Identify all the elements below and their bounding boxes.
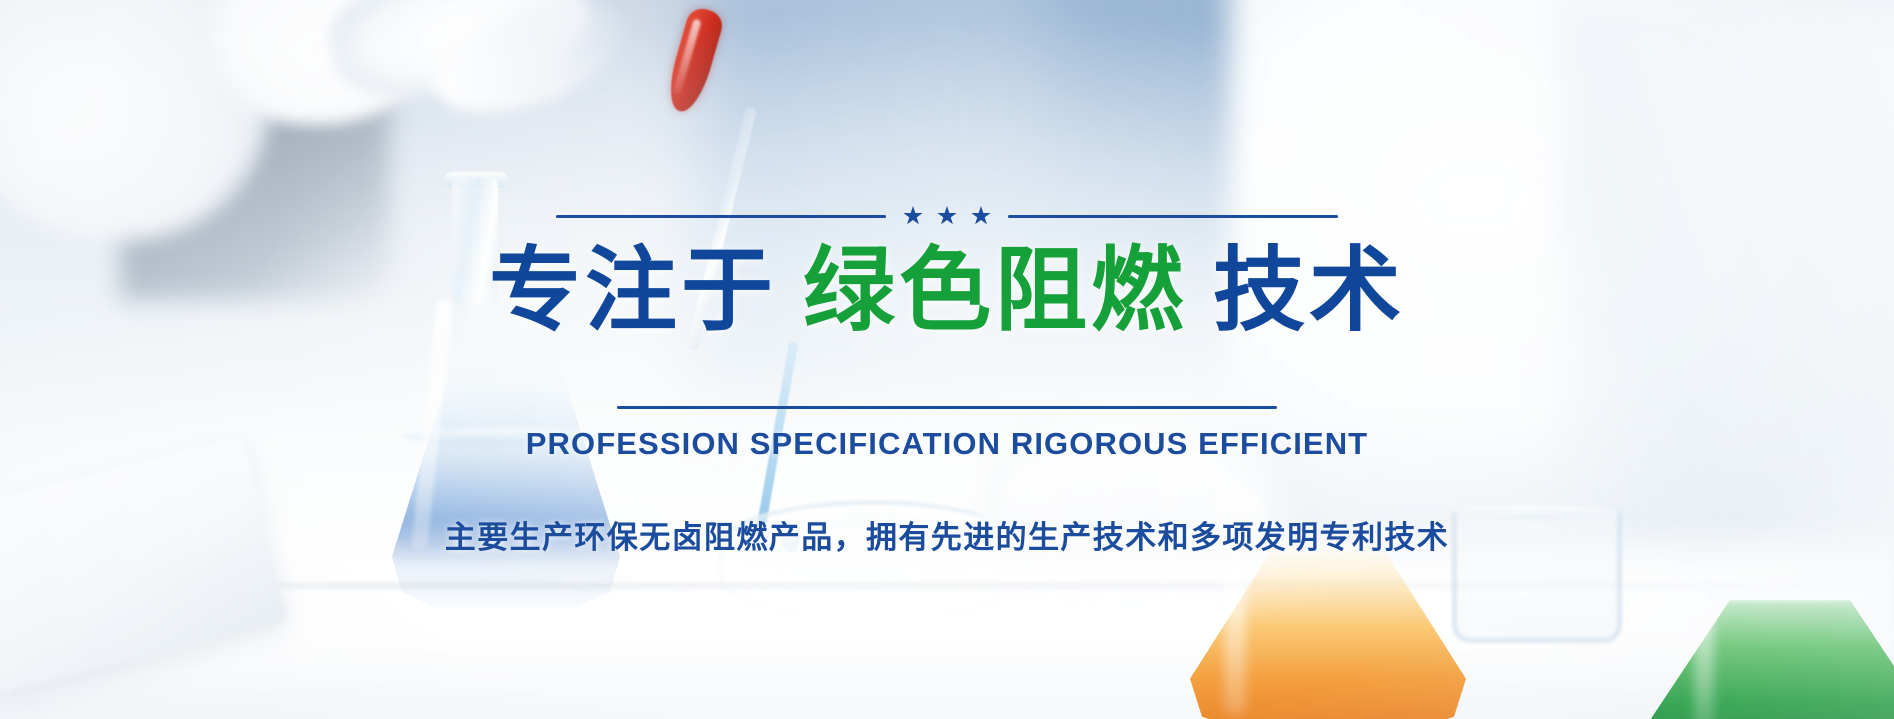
subtitle-english: PROFESSION SPECIFICATION RIGOROUS EFFICI…: [0, 426, 1894, 462]
star-icon: [971, 206, 991, 226]
hero-banner: 专注于绿色阻燃技术 PROFESSION SPECIFICATION RIGOR…: [0, 0, 1894, 719]
star-icon: [937, 206, 957, 226]
headline-part-two: 绿色阻燃: [803, 240, 1187, 342]
divider-stars: [897, 206, 997, 226]
divider-rule-right: [1008, 215, 1338, 218]
headline-part-one: 专注于: [489, 240, 777, 342]
page-title: 专注于绿色阻燃技术: [0, 238, 1894, 345]
star-divider: [0, 206, 1894, 226]
divider-rule-left: [556, 215, 886, 218]
headline-underline: [617, 406, 1277, 409]
description-chinese: 主要生产环保无卤阻燃产品，拥有先进的生产技术和多项发明专利技术: [0, 512, 1894, 557]
headline-part-three: 技术: [1213, 240, 1405, 342]
banner-content: 专注于绿色阻燃技术 PROFESSION SPECIFICATION RIGOR…: [0, 206, 1894, 557]
star-icon: [903, 206, 923, 226]
